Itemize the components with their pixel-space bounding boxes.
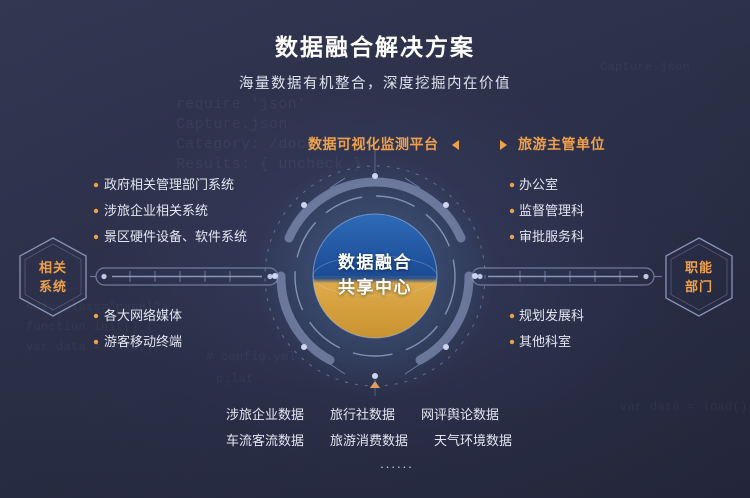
- arrow-left-icon: [452, 140, 459, 150]
- list-item: 游客移动终端: [104, 329, 182, 355]
- list-item: 监督管理科: [519, 198, 584, 224]
- arrow-right-icon: [500, 140, 507, 150]
- hexagon-right-line2: 部门: [685, 277, 713, 296]
- hexagon-left-line2: 系统: [39, 277, 67, 296]
- list-item: 天气环境数据: [434, 428, 512, 454]
- bg-code-7: # config.yml: [206, 350, 296, 364]
- right-bullets: [510, 183, 514, 344]
- bg-code-0: require 'json': [176, 96, 306, 113]
- core-line2: 共享中心: [305, 275, 445, 300]
- page-subtitle: 海量数据有机整合，深度挖掘内在价值: [0, 72, 750, 93]
- table-row: 涉旅企业数据 旅行社数据 网评舆论数据: [226, 402, 526, 428]
- bottom-ellipsis: ......: [268, 456, 526, 471]
- page-title: 数据融合解决方案: [0, 28, 750, 62]
- diagram-canvas: require 'json' Capture.json Category: /d…: [0, 0, 750, 498]
- list-item: 旅游消费数据: [330, 428, 408, 454]
- bg-code-8: p.lat: [216, 372, 254, 386]
- core-label: 数据融合 共享中心: [305, 250, 445, 300]
- list-item: 旅行社数据: [330, 402, 395, 428]
- list-right-bottom: 规划发展科 其他科室: [519, 303, 584, 355]
- table-row: 车流客流数据 旅游消费数据 天气环境数据: [226, 428, 526, 454]
- hexagon-left-line1: 相关: [39, 258, 67, 277]
- list-item: 其他科室: [519, 329, 584, 355]
- connector-bar-right: [472, 268, 654, 285]
- bg-code-10: var data = load();: [620, 400, 750, 414]
- bottom-data-rows: 涉旅企业数据 旅行社数据 网评舆论数据 车流客流数据 旅游消费数据 天气环境数据…: [226, 402, 526, 471]
- bg-code-1: Capture.json: [176, 116, 288, 133]
- core-line1: 数据融合: [305, 250, 445, 275]
- hexagon-related-systems: 相关 系统: [16, 235, 90, 319]
- list-item: 涉旅企业数据: [226, 402, 304, 428]
- list-right-top: 办公室 监督管理科 审批服务科: [519, 172, 584, 250]
- list-item: 景区硬件设备、软件系统: [104, 224, 247, 250]
- bg-code-2: Category: /docs/: [176, 136, 325, 153]
- list-item: 办公室: [519, 172, 584, 198]
- arrow-up-icon: [370, 381, 380, 388]
- list-item: 网评舆论数据: [421, 402, 499, 428]
- label-visualization-platform: 数据可视化监测平台: [308, 134, 439, 154]
- label-tourism-authority: 旅游主管单位: [518, 134, 605, 154]
- hexagon-left-text: 相关 系统: [39, 258, 67, 296]
- list-left-bottom: 各大网络媒体 游客移动终端: [104, 303, 182, 355]
- hexagon-functional-departments: 职能 部门: [662, 235, 736, 319]
- list-item: 涉旅企业相关系统: [104, 198, 247, 224]
- hexagon-right-text: 职能 部门: [685, 258, 713, 296]
- list-item: 审批服务科: [519, 224, 584, 250]
- connector-bar-left: [96, 268, 278, 285]
- list-item: 规划发展科: [519, 303, 584, 329]
- hexagon-right-line1: 职能: [685, 258, 713, 277]
- list-item: 政府相关管理部门系统: [104, 172, 247, 198]
- list-left-top: 政府相关管理部门系统 涉旅企业相关系统 景区硬件设备、软件系统: [104, 172, 247, 250]
- bg-code-3: Results: { uncheck }: [176, 156, 362, 173]
- list-item: 各大网络媒体: [104, 303, 182, 329]
- list-item: 车流客流数据: [226, 428, 304, 454]
